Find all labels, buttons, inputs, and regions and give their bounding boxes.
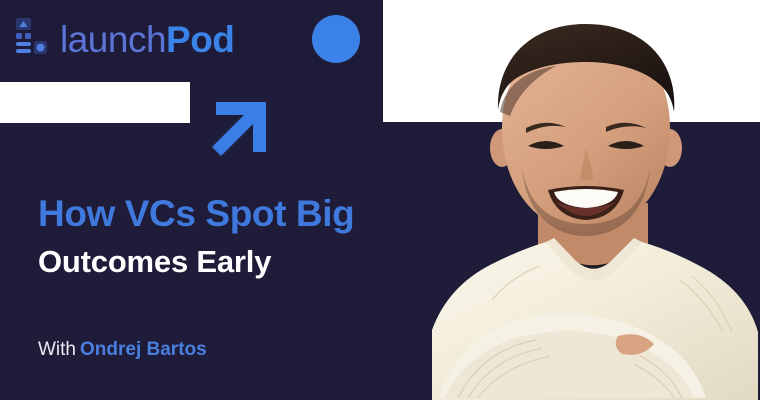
white-accent-band [0, 82, 190, 123]
title-line-1: How VCs Spot Big [38, 192, 458, 236]
title-line-2: Outcomes Early [38, 243, 458, 282]
logo-word-pod: Pod [166, 19, 234, 60]
presenter-name: Ondrej Bartos [80, 339, 207, 360]
brand-dot-panel [288, 0, 383, 78]
brand-dot-icon [312, 15, 360, 63]
logo-wordmark: launchPod [60, 21, 234, 58]
arrow-up-right-icon [200, 96, 272, 168]
episode-cover: launchPod How VCs Spot Big Outcomes Earl… [0, 0, 760, 400]
logo-panel[interactable]: launchPod [0, 0, 283, 78]
presenter-prefix: With [38, 339, 76, 360]
launchpod-mark-icon [14, 17, 50, 61]
presenter-credit: WithOndrej Bartos [38, 340, 207, 359]
presenter-photo [430, 0, 760, 400]
logo-word-launch: launch [60, 19, 166, 60]
episode-title: How VCs Spot Big Outcomes Early [38, 192, 458, 281]
